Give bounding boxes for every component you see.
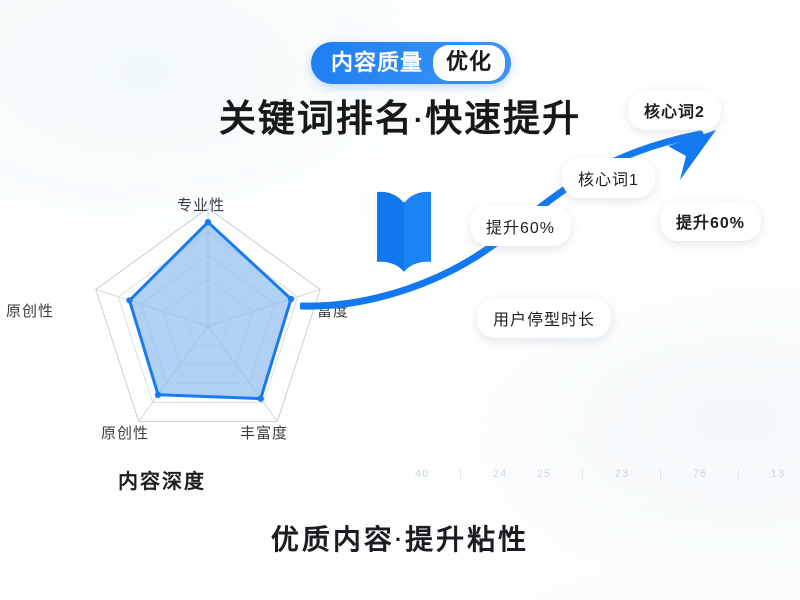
radar-series bbox=[126, 219, 294, 402]
axis-tick: 23 bbox=[615, 468, 629, 480]
axis-tick: 25 bbox=[537, 468, 551, 480]
radar-axis-label-bottom-left: 原创性 bbox=[101, 422, 149, 443]
radar-point bbox=[205, 219, 211, 225]
axis-tick: | bbox=[581, 468, 585, 480]
callout-core-keyword-1[interactable]: 核心词1 bbox=[562, 158, 655, 198]
content-quality-badge[interactable]: 内容质量 优化 bbox=[311, 42, 511, 84]
axis-tick: | bbox=[737, 468, 741, 480]
radar-axis-label-bottom-right: 丰富度 bbox=[240, 422, 288, 443]
axis-tick: | bbox=[459, 468, 463, 480]
callout-core-keyword-2[interactable]: 核心词2 bbox=[628, 90, 721, 130]
radar-axis-label-top: 专业性 bbox=[177, 194, 225, 215]
axis-tick: 40 bbox=[415, 468, 429, 480]
badge-main-label: 内容质量 bbox=[331, 52, 433, 74]
radar-chart-caption: 内容深度 bbox=[118, 465, 206, 494]
axis-tick: 13 bbox=[771, 468, 785, 480]
page-subtitle-part1: 优质内容 bbox=[271, 524, 395, 555]
axis-tick: | bbox=[659, 468, 663, 480]
axis-tick: 24 bbox=[493, 468, 507, 480]
radar-point bbox=[288, 296, 294, 302]
page-subtitle-part2: 提升粘性 bbox=[405, 524, 529, 555]
subtitle-separator-dot: · bbox=[395, 527, 405, 552]
callout-lift-right[interactable]: 提升60% bbox=[660, 201, 761, 241]
callout-dwell-time[interactable]: 用户停型时长 bbox=[477, 298, 611, 338]
poster-canvas: 内容质量 优化 关键词排名·快速提升 bbox=[0, 0, 800, 600]
radar-point bbox=[155, 392, 161, 398]
radar-point bbox=[258, 395, 264, 401]
callout-lift-left[interactable]: 提升60% bbox=[470, 206, 571, 246]
page-subtitle: 优质内容·提升粘性 bbox=[0, 518, 800, 558]
faint-axis-ticks: 40 | 24 25 | 23 | 76 | 13 bbox=[415, 463, 785, 485]
badge-pill-label: 优化 bbox=[433, 45, 505, 81]
axis-tick: 76 bbox=[693, 468, 707, 480]
radar-axis-label-left: 原创性 bbox=[6, 300, 54, 321]
radar-point bbox=[126, 297, 132, 303]
